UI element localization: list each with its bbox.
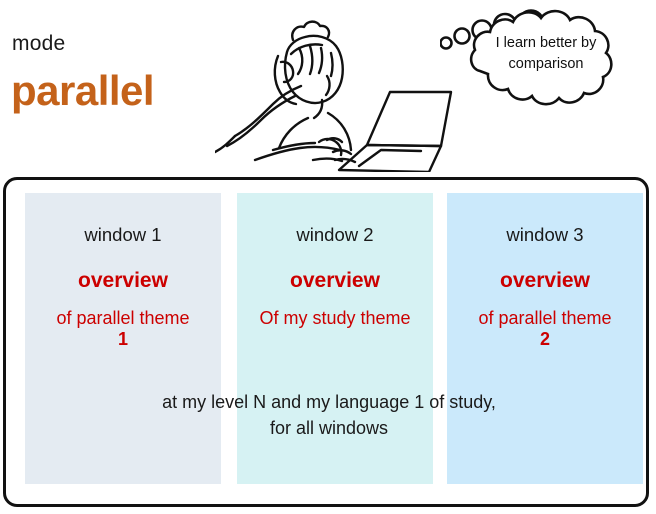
- window-3-subtitle: of parallel theme 2: [447, 308, 643, 352]
- header-area: mode parallel: [0, 0, 656, 177]
- window-1-title: window 1: [25, 226, 221, 245]
- window-1-subtitle: of parallel theme 1: [25, 308, 221, 352]
- mode-value: parallel: [11, 70, 154, 112]
- person-studying-at-laptop-icon: [215, 0, 465, 172]
- window-panel-1[interactable]: window 1 overview of parallel theme 1: [25, 193, 221, 484]
- mode-label: mode: [12, 33, 65, 54]
- window-2-subtitle-text: Of my study theme: [259, 308, 410, 328]
- window-3-subtitle-text: of parallel theme: [478, 308, 611, 328]
- window-1-overview-label: overview: [25, 270, 221, 291]
- window-3-theme-number: 2: [451, 329, 639, 351]
- window-3-overview-label: overview: [447, 270, 643, 291]
- window-panel-3[interactable]: window 3 overview of parallel theme 2: [447, 193, 643, 484]
- window-2-overview-label: overview: [237, 270, 433, 291]
- window-2-subtitle: Of my study theme: [237, 308, 433, 330]
- window-1-subtitle-text: of parallel theme: [56, 308, 189, 328]
- windows-container: window 1 overview of parallel theme 1 wi…: [3, 177, 649, 507]
- window-1-theme-number: 1: [29, 329, 217, 351]
- window-2-title: window 2: [237, 226, 433, 245]
- thought-bubble-text: I learn better by comparison: [466, 33, 626, 74]
- window-3-title: window 3: [447, 226, 643, 245]
- window-panel-2[interactable]: window 2 overview Of my study theme: [237, 193, 433, 484]
